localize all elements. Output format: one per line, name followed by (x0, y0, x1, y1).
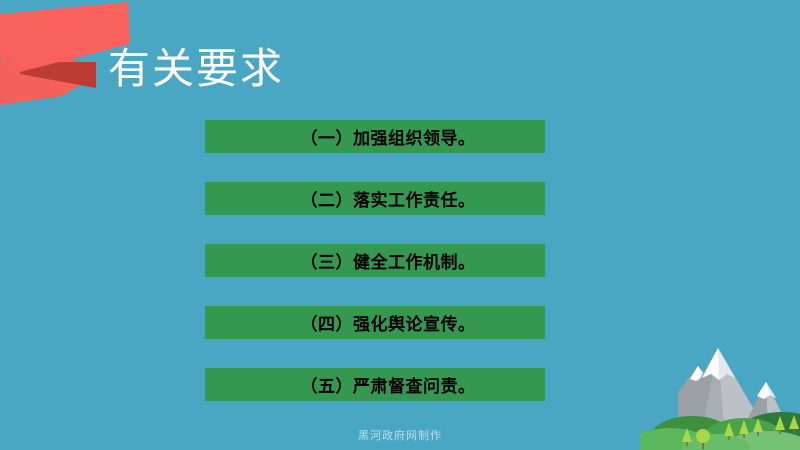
mountain-snow-left (690, 366, 708, 381)
mountain-snow-left-shade (698, 366, 708, 379)
list-item-label: （二）落实工作责任。 (275, 186, 476, 211)
mountain-peak-right-shadow (744, 382, 788, 426)
tree-trunk (702, 442, 704, 449)
list-item[interactable]: （五）严肃督查问责。 (205, 368, 545, 401)
mountain-peak-left-light (698, 366, 718, 426)
mountain-peak-main-light (718, 348, 766, 430)
page-title: 有关要求 (108, 46, 284, 91)
list-item[interactable]: （四）强化舆论宣传。 (205, 306, 545, 339)
presentation-slide: 有关要求 （一）加强组织领导。 （二）落实工作责任。 （三）健全工作机制。 （四… (0, 0, 800, 450)
list-item[interactable]: （二）落实工作责任。 (205, 182, 545, 215)
list-item-label: （一）加强组织领导。 (275, 124, 476, 149)
ribbon-fold-shape (20, 62, 96, 88)
mountain-peak-left-shadow (678, 366, 718, 426)
list-item-label: （五）严肃督查问责。 (275, 372, 476, 397)
requirement-list: （一）加强组织领导。 （二）落实工作责任。 （三）健全工作机制。 （四）强化舆论… (205, 120, 545, 401)
list-item-label: （三）健全工作机制。 (275, 248, 476, 273)
watermark-text: 黑河政府网制作 (0, 427, 800, 443)
list-item[interactable]: （三）健全工作机制。 (205, 244, 545, 277)
mountain-peak-right-light (766, 382, 788, 426)
mountain-snow-main-shade (718, 348, 735, 380)
ribbon-tail-shape (0, 50, 96, 105)
ribbon-notch-shape (116, 2, 130, 44)
list-item-label: （四）强化舆论宣传。 (275, 310, 476, 335)
mountain-peak-main-shadow (670, 348, 766, 430)
mountain-snow-right (757, 382, 776, 399)
mountain-snow-main (702, 348, 735, 380)
mountain-snow-right-shade (766, 382, 776, 398)
mountain-peak-main-mid (702, 348, 724, 430)
list-item[interactable]: （一）加强组织领导。 (205, 120, 545, 153)
